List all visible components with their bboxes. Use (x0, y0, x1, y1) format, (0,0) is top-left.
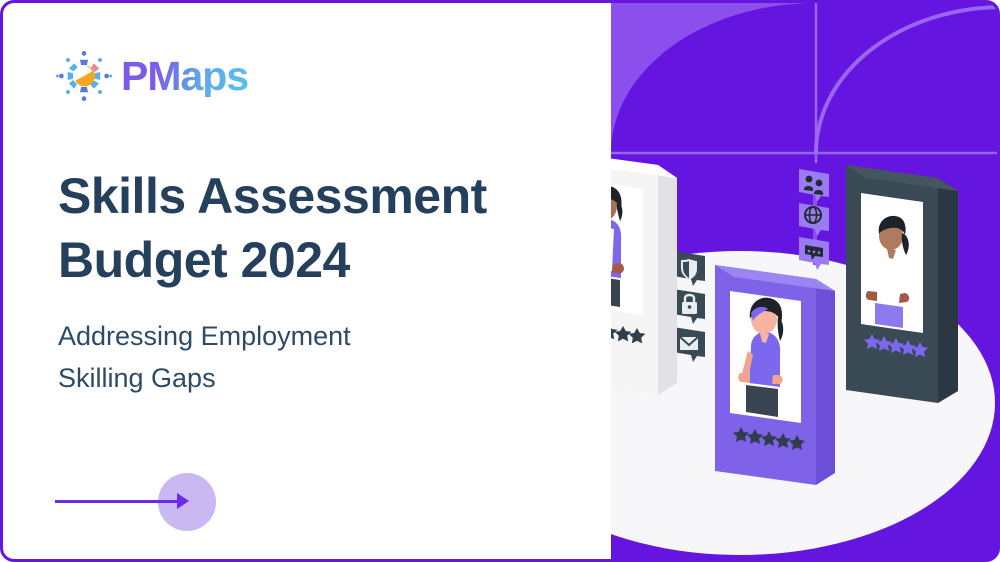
page-subtitle: Addressing Employment Skilling Gaps (58, 316, 528, 400)
quarter-circle-block (611, 3, 816, 153)
brand-logo[interactable]: PMaps (55, 47, 248, 105)
icon-badges-right (799, 169, 829, 270)
page-subtitle-line2: Skilling Gaps (58, 358, 528, 400)
content-panel: PMaps Skills Assessment Budget 2024 Addr… (3, 3, 611, 562)
page-title-line2: Budget 2024 (58, 228, 578, 292)
card-middle (715, 265, 835, 485)
slide-root: PMaps Skills Assessment Budget 2024 Addr… (0, 0, 1000, 562)
page-title: Skills Assessment Budget 2024 (58, 164, 578, 292)
brand-name: PMaps (121, 56, 248, 97)
page-subtitle-line1: Addressing Employment (58, 321, 351, 351)
icon-badges-middle (673, 251, 705, 362)
arrow-right-icon (55, 500, 185, 503)
arrow-head-icon (177, 493, 189, 509)
card-right (846, 165, 958, 403)
sun-network-icon (55, 47, 113, 105)
cta-arrow[interactable] (55, 473, 215, 531)
page-title-line1: Skills Assessment (58, 168, 487, 224)
